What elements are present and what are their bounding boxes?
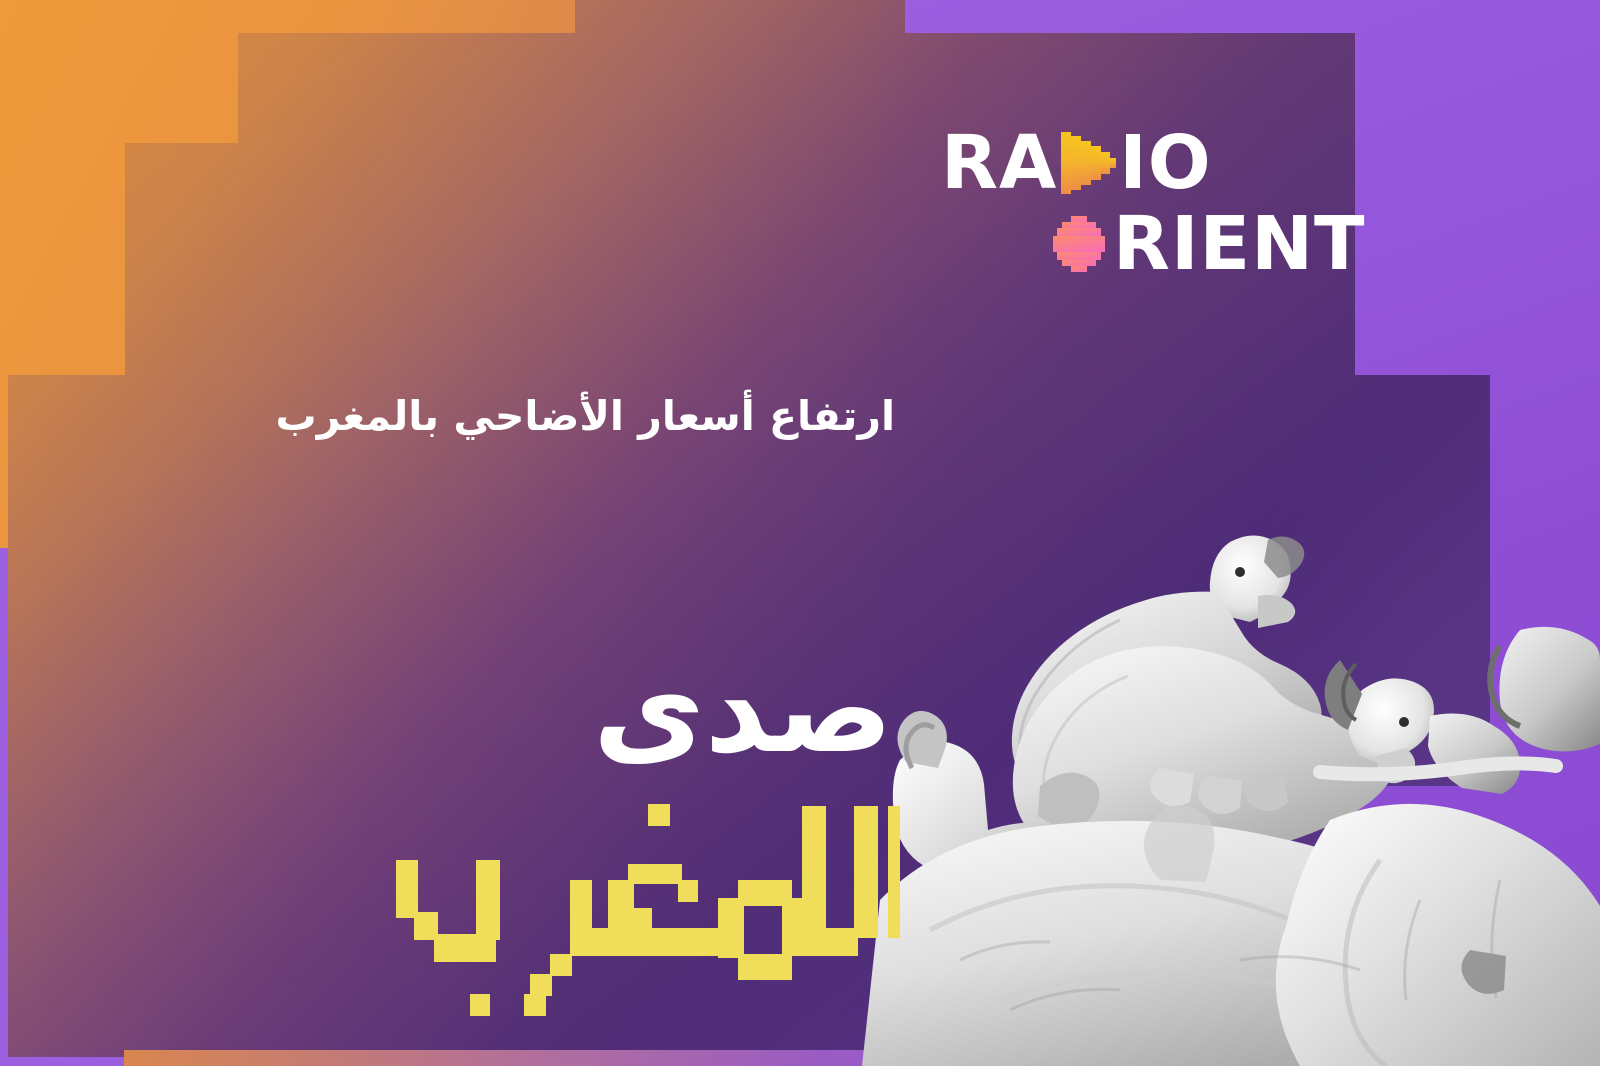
logo-text-io: IO	[1119, 126, 1211, 200]
radio-orient-logo[interactable]: RA IO RIENT	[941, 128, 1341, 278]
background-purple-bottom-left	[0, 1050, 124, 1066]
logo-text-ra: RA	[941, 126, 1057, 200]
logo-text-rient: RIENT	[1113, 207, 1365, 281]
brand-title-sada: صدى	[0, 648, 893, 770]
news-card: RA IO RIENT	[0, 0, 1600, 1066]
logo-line-radio: RA IO	[941, 128, 1341, 198]
play-triangle-icon	[1061, 132, 1115, 194]
logo-line-orient: RIENT	[1051, 208, 1341, 280]
circle-dot-icon	[1051, 216, 1107, 272]
headline-text: ارتفاع أسعار الأضاحي بالمغرب	[0, 392, 895, 440]
brand-title-maghrib-pixel	[372, 788, 900, 1020]
background-purple-left-strip	[0, 548, 10, 1066]
